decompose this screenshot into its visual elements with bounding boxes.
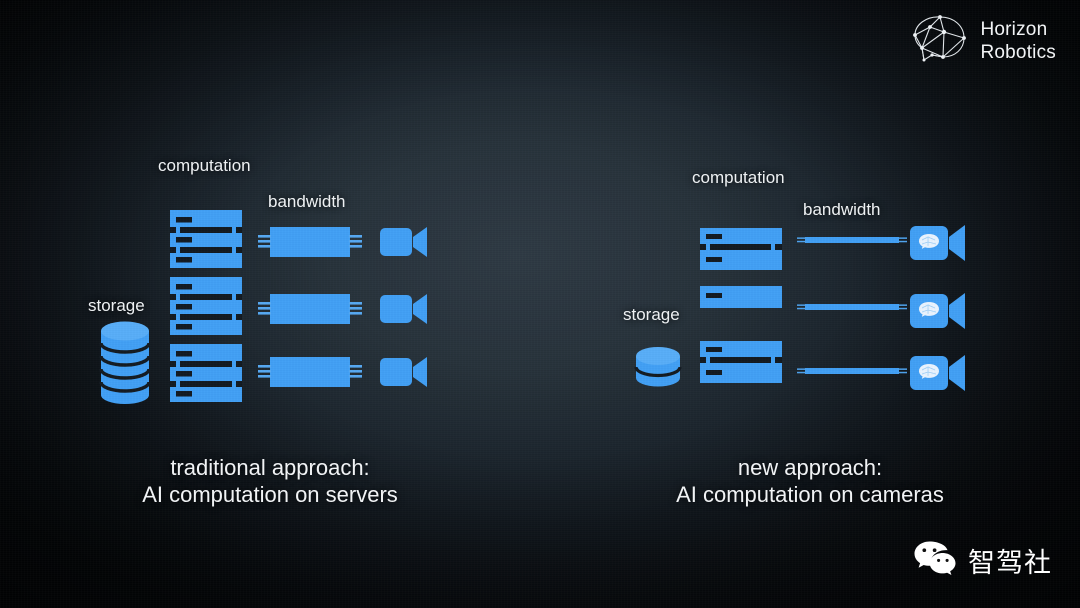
label-storage-new: storage: [623, 305, 680, 325]
caption-traditional-line1: traditional approach:: [0, 455, 540, 482]
bandwidth-traditional-1: [258, 222, 362, 262]
brand-name-line1: Horizon: [980, 19, 1056, 41]
caption-new-line2: AI computation on cameras: [540, 482, 1080, 509]
brand-logo: Horizon Robotics: [910, 14, 1056, 69]
computation-new: [700, 228, 782, 383]
computation-traditional: [170, 210, 242, 402]
thick-cable-icon: [258, 222, 362, 262]
camera-traditional-2: [380, 291, 428, 327]
thin-cable-icon: [797, 363, 907, 379]
video-camera-ai-icon: [910, 352, 966, 394]
brand-name-line2: Robotics: [980, 42, 1056, 64]
camera-new-1: [910, 222, 966, 264]
caption-new: new approach: AI computation on cameras: [540, 455, 1080, 509]
caption-traditional-line2: AI computation on servers: [0, 482, 540, 509]
bandwidth-new-2: [797, 299, 907, 315]
camera-traditional-1: [380, 224, 428, 260]
camera-new-2: [910, 290, 966, 332]
storage-new: [633, 343, 683, 389]
camera-new-3: [910, 352, 966, 394]
thin-cable-icon: [797, 299, 907, 315]
wechat-icon: [913, 539, 957, 582]
label-bandwidth-traditional: bandwidth: [268, 192, 346, 212]
video-camera-ai-icon: [910, 222, 966, 264]
slide-canvas: Horizon Robotics 智驾社 computation bandwid…: [0, 0, 1080, 608]
caption-traditional: traditional approach: AI computation on …: [0, 455, 540, 509]
thin-cable-icon: [797, 232, 907, 248]
thick-cable-icon: [258, 289, 362, 329]
server-rack-icon: [170, 210, 242, 402]
bandwidth-traditional-3: [258, 352, 362, 392]
brand-name: Horizon Robotics: [980, 19, 1056, 64]
panel-new: computation bandwidth storage: [540, 0, 1080, 608]
thick-cable-icon: [258, 352, 362, 392]
video-camera-icon: [380, 354, 428, 390]
brain-network-icon: [910, 14, 968, 69]
video-camera-icon: [380, 224, 428, 260]
label-bandwidth-new: bandwidth: [803, 200, 881, 220]
label-storage-traditional: storage: [88, 296, 145, 316]
label-computation-new: computation: [692, 168, 785, 188]
storage-traditional: [97, 315, 153, 407]
video-camera-icon: [380, 291, 428, 327]
video-camera-ai-icon: [910, 290, 966, 332]
database-stack-icon: [97, 315, 153, 407]
watermark-text: 智驾社: [968, 541, 1052, 580]
wechat-watermark: 智驾社: [913, 539, 1052, 582]
caption-new-line1: new approach:: [540, 455, 1080, 482]
bandwidth-new-1: [797, 232, 907, 248]
bandwidth-traditional-2: [258, 289, 362, 329]
camera-traditional-3: [380, 354, 428, 390]
database-stack-icon: [633, 343, 683, 389]
bandwidth-new-3: [797, 363, 907, 379]
server-rack-icon: [700, 228, 782, 383]
panel-traditional: computation bandwidth storage: [0, 0, 540, 608]
label-computation-traditional: computation: [158, 156, 251, 176]
